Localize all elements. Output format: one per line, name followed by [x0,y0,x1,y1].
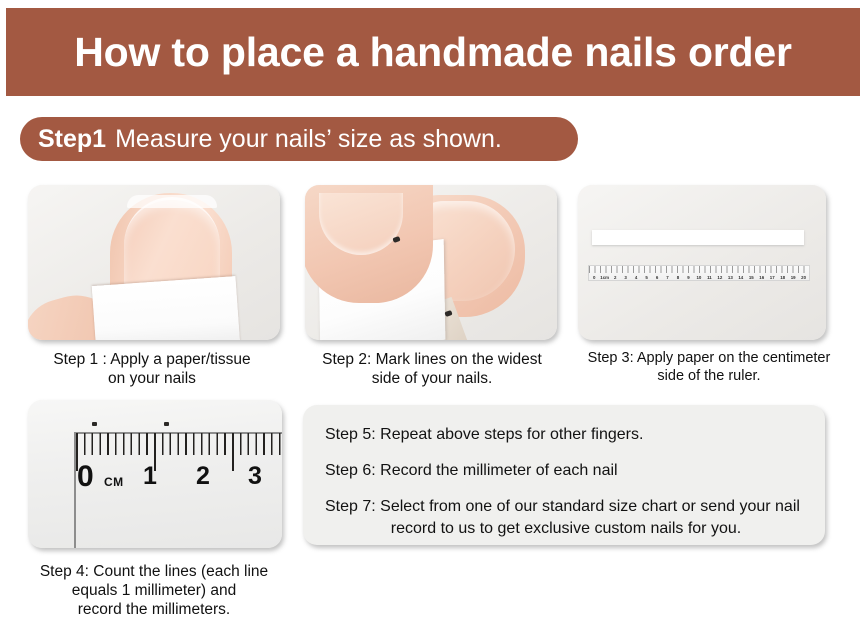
pen-mark-icon [164,422,169,426]
ruler-number: 15 [746,273,756,282]
paper-strip-on-ruler-photo: 0 1cm 2 3 4 5 6 7 8 9 10 11 12 13 14 15 … [578,185,826,340]
step7-line1: Step 7: Select from one of our standard … [325,498,800,515]
page-title: How to place a handmade nails order [74,32,792,73]
step7-text: Step 7: Select from one of our standard … [325,499,807,537]
ruler-number: 8 [673,273,683,282]
ruler-closeup-photo: 0 CM 1 2 3 [28,400,282,548]
ruler-number: 10 [694,273,704,282]
step1-caption-line1: Step 1 : Apply a paper/tissue [12,350,292,369]
ruler-number: 12 [715,273,725,282]
pen-mark-icon [92,422,97,426]
ruler-number-row: 0 1cm 2 3 4 5 6 7 8 9 10 11 12 13 14 15 … [589,273,809,282]
nail-tip-highlight [127,195,217,208]
paper-strip-shape [92,276,241,340]
ruler-number: 19 [788,273,798,282]
step4-caption-line2: equals 1 millimeter) and [8,581,300,600]
ruler-tick-marks [589,266,809,273]
step2-caption: Step 2: Mark lines on the widest side of… [294,350,570,388]
photo-background [578,185,826,340]
header-banner: How to place a handmade nails order [6,8,860,96]
ruler-number-three: 3 [248,464,262,489]
ruler-number: 17 [767,273,777,282]
step2-caption-line2: side of your nails. [294,369,570,388]
step1-instruction: Measure your nails’ size as shown. [115,127,502,152]
ruler-number: 6 [652,273,662,282]
step1-caption: Step 1 : Apply a paper/tissue on your na… [12,350,292,388]
step4-caption: Step 4: Count the lines (each line equal… [8,562,300,619]
step5-text: Step 5: Repeat above steps for other fin… [325,427,807,443]
ruler-number: 13 [725,273,735,282]
ruler-number: 3 [620,273,630,282]
ruler-number: 11 [704,273,714,282]
ruler-number: 18 [777,273,787,282]
ruler-number: 2 [610,273,620,282]
step4-photo-card: 0 CM 1 2 3 [28,400,282,548]
ruler-number: 0 [589,273,599,282]
step1-banner: Step1 Measure your nails’ size as shown. [20,117,578,161]
marking-paper-on-nail-photo [305,185,557,340]
ruler-unit-label: CM [104,476,124,488]
step3-caption-line2: side of the ruler. [570,368,848,386]
fingertip-with-paper-strip-photo [28,185,280,340]
ruler-number-zero: 0 [77,462,94,492]
ruler-number-one: 1 [143,464,157,489]
step1-label: Step1 [38,127,106,152]
ruler-number: 5 [641,273,651,282]
ruler-shape: 0 1cm 2 3 4 5 6 7 8 9 10 11 12 13 14 15 … [588,265,810,281]
ruler-number: 9 [683,273,693,282]
steps-5-7-box: Step 5: Repeat above steps for other fin… [303,405,825,545]
step2-caption-line1: Step 2: Mark lines on the widest [294,350,570,369]
ruler-number: 20 [798,273,808,282]
ruler-number: 14 [736,273,746,282]
step7-line2: record to us to get exclusive custom nai… [325,521,807,537]
ruler-number: 4 [631,273,641,282]
step1-photo-card [28,185,280,340]
step6-text: Step 6: Record the millimeter of each na… [325,463,807,479]
ruler-number-two: 2 [196,464,210,489]
step3-caption: Step 3: Apply paper on the centimeter si… [570,350,848,386]
ruler-number: 16 [757,273,767,282]
paper-strip-shape [592,230,804,245]
step4-caption-line1: Step 4: Count the lines (each line [8,562,300,581]
step3-photo-card: 0 1cm 2 3 4 5 6 7 8 9 10 11 12 13 14 15 … [578,185,826,340]
step1-caption-line2: on your nails [12,369,292,388]
ruler-number: 7 [662,273,672,282]
step2-photo-card [305,185,557,340]
ruler-number: 1cm [599,273,609,282]
step4-caption-line3: record the millimeters. [8,600,300,619]
step3-caption-line1: Step 3: Apply paper on the centimeter [570,350,848,368]
